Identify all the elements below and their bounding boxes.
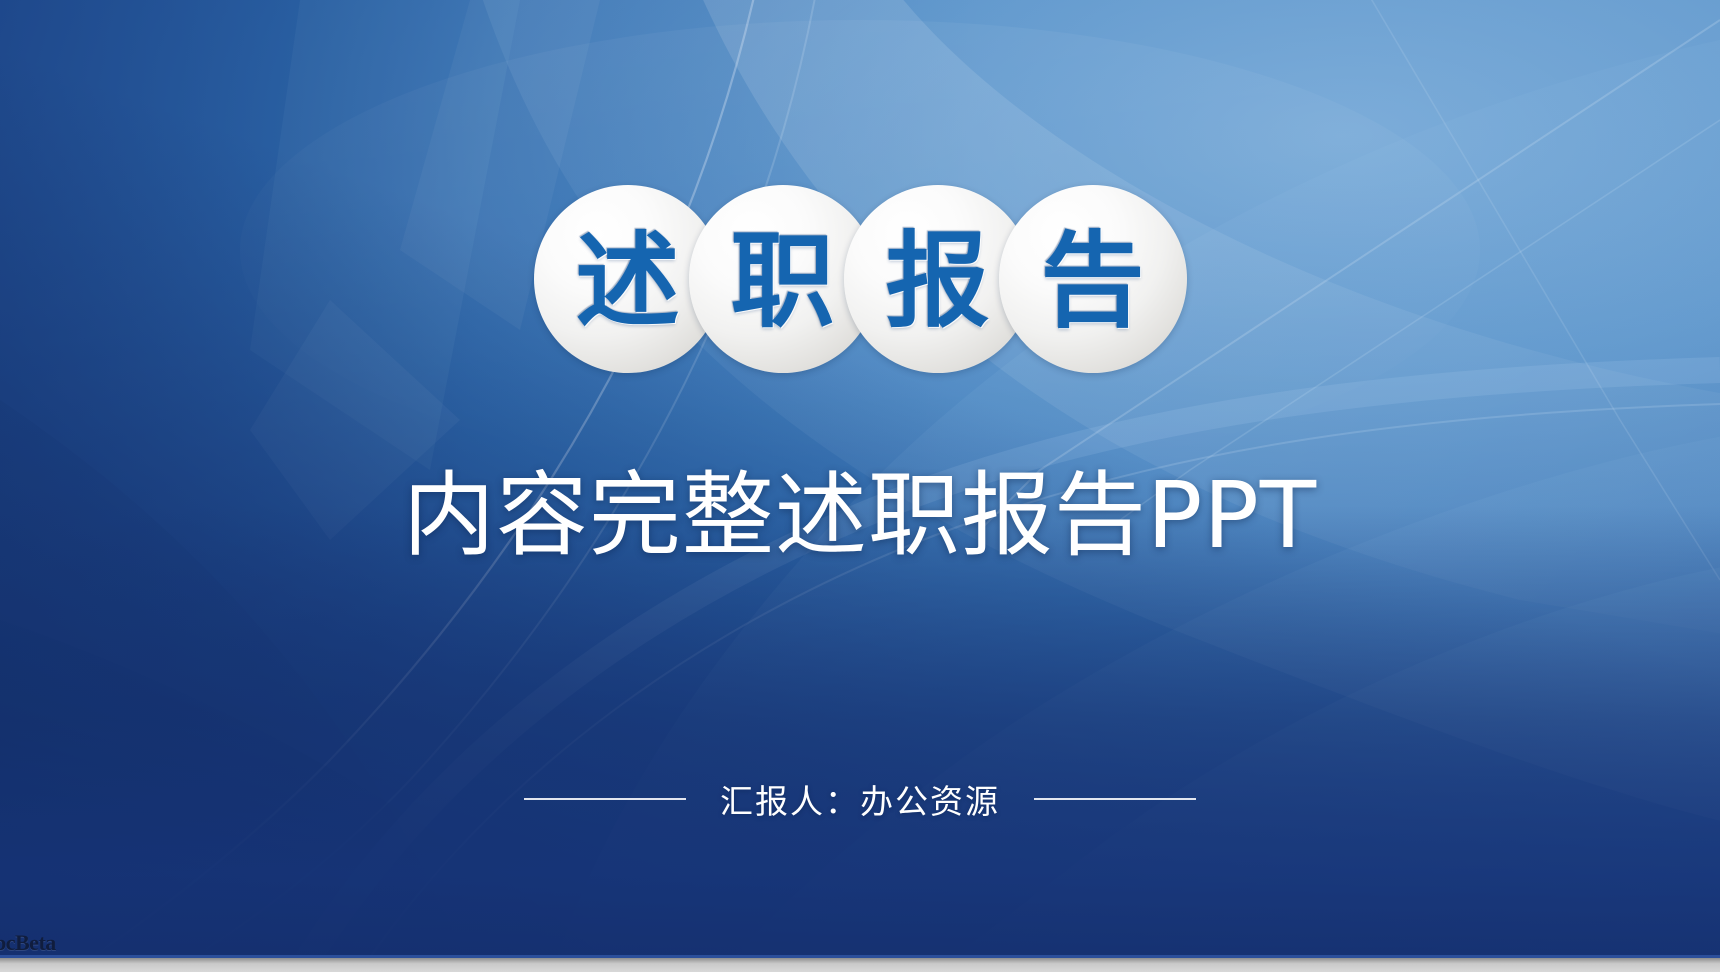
- slide-main-title: 内容完整述职报告PPT: [0, 466, 1720, 565]
- title-badge-char: 述: [575, 229, 679, 333]
- bottom-strip: [0, 958, 1720, 972]
- presentation-slide: 述 职 报 告 内容完整述职报告PPT 汇报人：办公资源 pcBeta: [0, 0, 1720, 972]
- presenter-text: 汇报人：办公资源: [720, 775, 1000, 823]
- title-badge-char: 职: [730, 229, 834, 333]
- title-badge: 告: [999, 185, 1187, 373]
- presenter-row: 汇报人：办公资源: [0, 775, 1720, 823]
- presenter-rule-right: [1034, 798, 1196, 800]
- title-badge-char: 告: [1040, 229, 1144, 333]
- watermark-label: pcBeta: [0, 930, 56, 956]
- presenter-rule-left: [524, 798, 686, 800]
- title-badge-char: 报: [885, 229, 989, 333]
- title-badge-row: 述 职 报 告: [0, 185, 1720, 380]
